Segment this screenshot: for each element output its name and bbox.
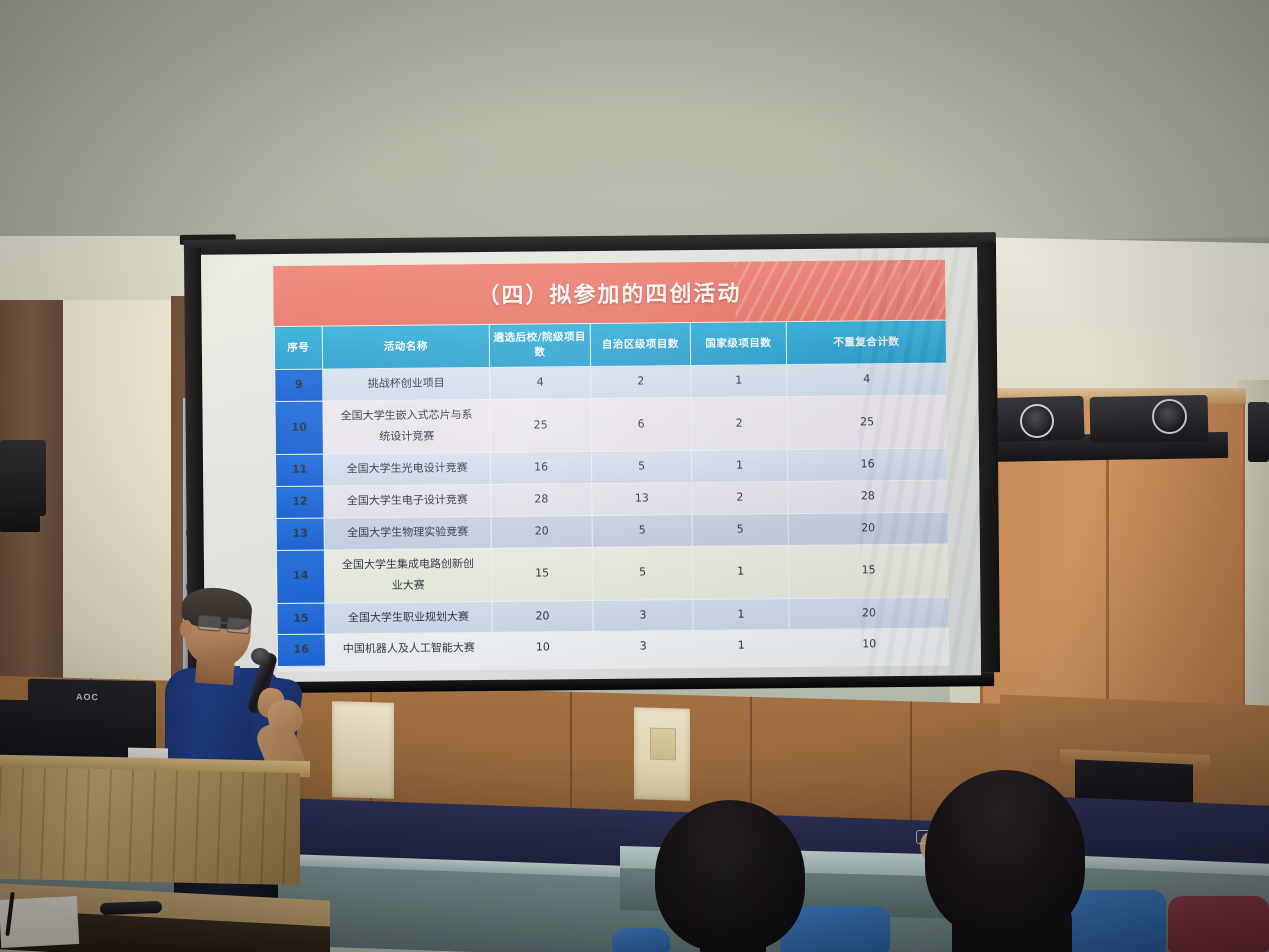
cell-school-count: 20 (492, 600, 593, 633)
cell-region-count: 3 (593, 599, 693, 632)
cell-school-count: 15 (491, 547, 593, 601)
wall-niche-left (332, 701, 394, 799)
table-row: 16中国机器人及人工智能大赛103110 (277, 629, 949, 667)
cell-region-count: 5 (592, 546, 693, 600)
cell-index: 16 (277, 635, 325, 667)
cell-region-count: 3 (593, 631, 693, 664)
cell-national-count: 1 (693, 630, 789, 663)
cell-total-count: 25 (787, 395, 947, 449)
cell-index: 12 (276, 486, 324, 518)
cell-activity-name: 全国大学生职业规划大赛 (325, 601, 492, 634)
cell-activity-name: 全国大学生光电设计竞赛 (323, 453, 490, 486)
col-header-total: 不重复合计数 (786, 320, 946, 365)
col-header-school: 遴选后校/院级项目数 (489, 324, 590, 368)
cell-index: 10 (275, 401, 324, 454)
wall-niche-artwork (650, 728, 676, 761)
speaker-cone-a (1020, 404, 1054, 438)
cell-index: 13 (276, 518, 324, 550)
audience-member-1-head (655, 800, 805, 952)
projection-screen: （四）拟参加的四创活动 序号 活动名称 遴选后校/院级项目数 自治区级项目数 国… (184, 232, 1000, 690)
cell-region-count: 6 (591, 398, 692, 452)
speaker-far-right (1248, 402, 1269, 462)
cell-activity-name: 全国大学生物理实验竞赛 (324, 516, 491, 549)
cell-activity-name: 挑战杯创业项目 (323, 368, 490, 401)
slide-table: 序号 活动名称 遴选后校/院级项目数 自治区级项目数 国家级项目数 不重复合计数… (274, 320, 949, 668)
cell-national-count: 5 (692, 514, 788, 547)
cell-school-count: 10 (492, 632, 593, 665)
cell-total-count: 16 (787, 448, 947, 481)
cell-school-count: 20 (491, 515, 592, 548)
audience-member-2-head (925, 770, 1085, 938)
seat-red-1[interactable] (1168, 896, 1269, 952)
cell-region-count: 2 (591, 366, 691, 399)
table-header-row: 序号 活动名称 遴选后校/院级项目数 自治区级项目数 国家级项目数 不重复合计数 (274, 320, 946, 370)
cell-school-count: 4 (490, 367, 591, 400)
cell-activity-name: 全国大学生嵌入式芯片与系统设计竞赛 (323, 400, 490, 454)
cell-index: 15 (277, 603, 325, 635)
col-header-index: 序号 (274, 326, 322, 370)
cell-school-count: 25 (490, 399, 592, 453)
cell-national-count: 1 (693, 598, 789, 631)
cell-national-count: 1 (692, 545, 789, 599)
monitor-brand-label: AOC (76, 692, 99, 702)
seat-blue-3[interactable] (612, 928, 670, 952)
cell-region-count: 13 (592, 483, 692, 516)
cell-national-count: 2 (691, 397, 788, 451)
cell-school-count: 28 (491, 484, 592, 517)
table-row: 14全国大学生集成电路创新创业大赛155115 (276, 544, 948, 603)
col-header-national: 国家级项目数 (690, 322, 786, 366)
cell-school-count: 16 (490, 452, 591, 485)
cell-total-count: 10 (789, 629, 949, 662)
projected-slide: （四）拟参加的四创活动 序号 活动名称 遴选后校/院级项目数 自治区级项目数 国… (273, 260, 949, 672)
cell-national-count: 2 (692, 482, 788, 515)
table-body: 9挑战杯创业项目421410全国大学生嵌入式芯片与系统设计竞赛25622511全… (275, 364, 949, 667)
lecture-hall-photo: （四）拟参加的四创活动 序号 活动名称 遴选后校/院级项目数 自治区级项目数 国… (0, 0, 1269, 952)
cell-total-count: 4 (787, 364, 947, 397)
cell-total-count: 15 (788, 544, 948, 598)
table-row: 10全国大学生嵌入式芯片与系统设计竞赛256225 (275, 395, 947, 454)
desk-remote[interactable] (100, 901, 162, 915)
cell-total-count: 20 (789, 597, 949, 630)
screen-surface: （四）拟参加的四创活动 序号 活动名称 遴选后校/院级项目数 自治区级项目数 国… (201, 247, 981, 682)
cell-region-count: 5 (591, 451, 691, 484)
cell-index: 14 (276, 550, 325, 603)
col-header-name: 活动名称 (322, 324, 489, 369)
cell-total-count: 28 (788, 480, 948, 513)
cell-national-count: 1 (691, 365, 787, 398)
slide-title: （四）拟参加的四创活动 (273, 274, 945, 312)
speaker-left-lower (0, 496, 40, 532)
podium-slats (0, 767, 300, 885)
cell-total-count: 20 (788, 512, 948, 545)
cell-index: 11 (275, 454, 323, 486)
speaker-right-b (1090, 395, 1209, 443)
cell-activity-name: 全国大学生集成电路创新创业大赛 (324, 548, 491, 602)
cell-index: 9 (275, 370, 323, 402)
col-header-region: 自治区级项目数 (590, 323, 690, 367)
cell-activity-name: 中国机器人及人工智能大赛 (325, 633, 492, 666)
speaker-cone-b (1152, 399, 1187, 434)
cell-region-count: 5 (592, 514, 692, 547)
cell-national-count: 1 (691, 450, 787, 483)
cell-activity-name: 全国大学生电子设计竞赛 (324, 484, 491, 517)
